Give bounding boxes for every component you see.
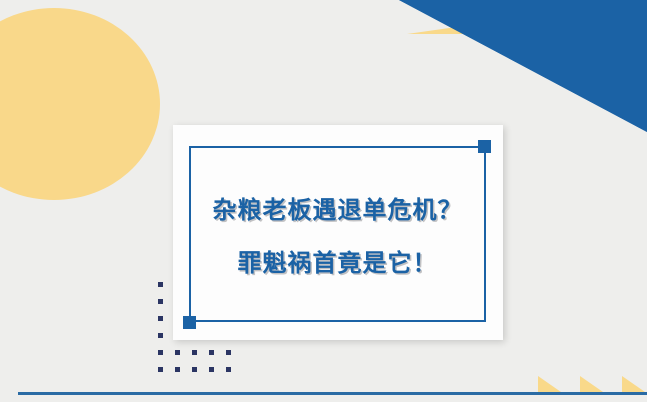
- dot: [226, 367, 231, 372]
- dot: [175, 367, 180, 372]
- dot: [175, 350, 180, 355]
- dot: [209, 350, 214, 355]
- bottom-right-triangle-group: [538, 376, 645, 392]
- dot: [158, 367, 163, 372]
- dot: [158, 333, 163, 338]
- frame-corner-marker-top-right: [478, 140, 491, 153]
- frame-corner-marker-bottom-left: [183, 316, 196, 329]
- dot: [158, 316, 163, 321]
- triangle-shape: [580, 376, 603, 392]
- dot: [192, 367, 197, 372]
- title-card-border-frame: [189, 146, 486, 322]
- dot: [209, 367, 214, 372]
- dot: [158, 350, 163, 355]
- triangle-shape: [622, 376, 645, 392]
- bottom-horizontal-rule: [18, 392, 647, 395]
- slide-canvas: 杂粮老板遇退单危机？ 罪魁祸首竟是它！: [0, 0, 647, 402]
- triangle-shape: [538, 376, 561, 392]
- dot: [158, 282, 163, 287]
- dot: [158, 299, 163, 304]
- dot: [226, 350, 231, 355]
- dot: [192, 350, 197, 355]
